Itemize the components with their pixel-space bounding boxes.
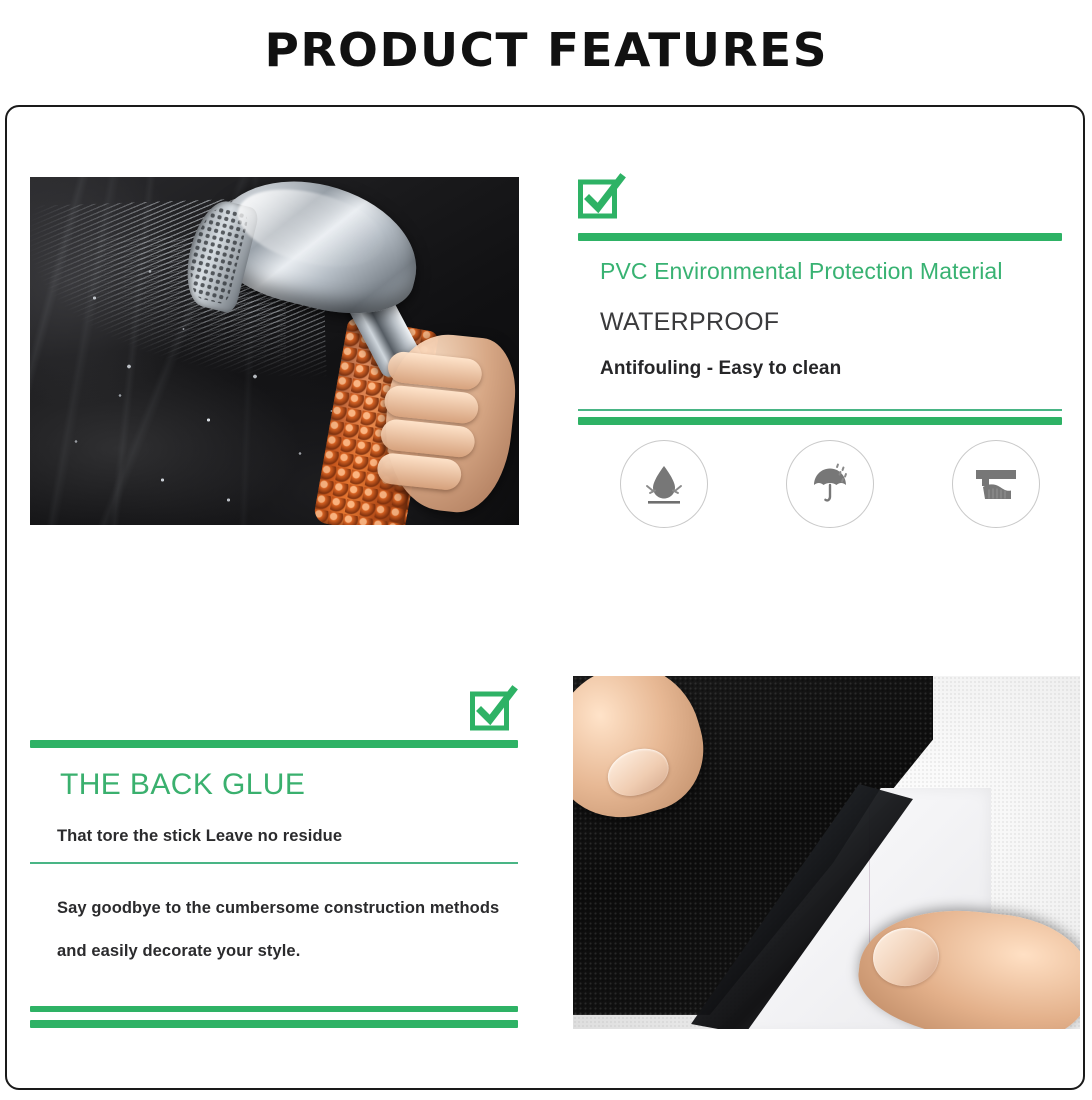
checked-checkbox-icon-2	[470, 687, 515, 732]
bottom-rule-thick-1	[30, 1006, 518, 1012]
back-glue-title: THE BACK GLUE	[60, 768, 305, 802]
peel-backing-photo	[573, 676, 1080, 1029]
bottom-rule-thick-top	[30, 740, 518, 748]
top-rule-thick	[578, 233, 1062, 241]
title-bar: PRODUCT FEATURES	[0, 0, 1092, 100]
top-rule-thick-2	[578, 417, 1062, 425]
umbrella-rain-icon	[786, 440, 874, 528]
back-glue-paragraph-line-1: Say goodbye to the cumbersome constructi…	[57, 899, 499, 918]
checked-checkbox-icon	[578, 175, 623, 220]
product-features-infographic: PRODUCT FEATURES PVC Environment	[0, 0, 1092, 1100]
shower-spray-photo	[30, 177, 519, 525]
back-glue-subtitle: That tore the stick Leave no residue	[57, 827, 342, 846]
feature-detail: Antifouling - Easy to clean	[600, 358, 841, 380]
squeegee-wipe-icon	[952, 440, 1040, 528]
page-title: PRODUCT FEATURES	[264, 27, 828, 73]
feature-top-checkbox-wrap	[578, 175, 1062, 220]
bottom-rule-thin	[30, 862, 518, 864]
back-glue-paragraph-line-2: and easily decorate your style.	[57, 942, 300, 961]
feature-icon-row	[620, 440, 1040, 532]
hand-fingers	[375, 348, 486, 505]
top-rule-thin	[578, 409, 1062, 411]
bottom-rule-thick-2	[30, 1020, 518, 1028]
feature-headline: PVC Environmental Protection Material	[600, 258, 1003, 285]
feature-subhead: WATERPROOF	[600, 308, 779, 337]
water-repellent-icon	[620, 440, 708, 528]
